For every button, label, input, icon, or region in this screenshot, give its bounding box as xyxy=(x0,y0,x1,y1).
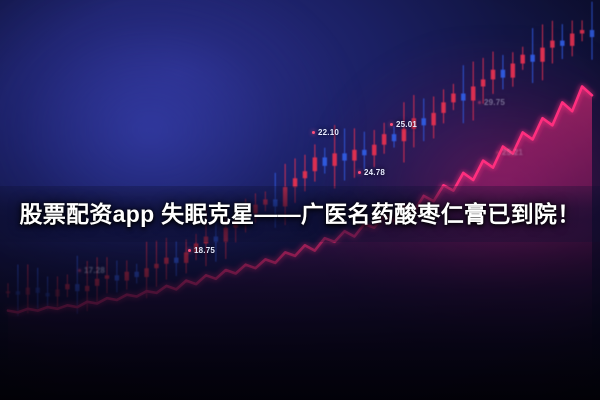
data-point-label: 22.10 xyxy=(312,128,339,137)
data-point-label: 24.78 xyxy=(358,168,385,177)
stock-chart-banner: 22.1025.0124.7818.7529.7525.2117.28 股票配资… xyxy=(0,0,600,400)
data-point-value: 24.78 xyxy=(364,168,385,177)
data-point-marker-icon xyxy=(358,171,361,174)
data-point-label: 25.01 xyxy=(390,120,417,129)
data-point-label: 17.28 xyxy=(78,266,105,275)
data-point-value: 18.75 xyxy=(194,246,215,255)
data-point-value: 17.28 xyxy=(84,266,105,275)
data-point-label: 25.21 xyxy=(496,148,523,157)
data-point-value: 29.75 xyxy=(484,98,505,107)
data-point-value: 22.10 xyxy=(318,128,339,137)
data-point-label: 18.75 xyxy=(188,246,215,255)
data-point-marker-icon xyxy=(188,249,191,252)
data-point-marker-icon xyxy=(390,123,393,126)
data-point-value: 25.01 xyxy=(396,120,417,129)
data-point-marker-icon xyxy=(496,151,499,154)
data-point-label: 29.75 xyxy=(478,98,505,107)
headline-text: 股票配资app 失眠克星——广医名药酸枣仁膏已到院！ xyxy=(0,196,600,232)
data-point-value: 25.21 xyxy=(502,148,523,157)
data-point-marker-icon xyxy=(478,101,481,104)
data-point-marker-icon xyxy=(78,269,81,272)
data-point-marker-icon xyxy=(312,131,315,134)
